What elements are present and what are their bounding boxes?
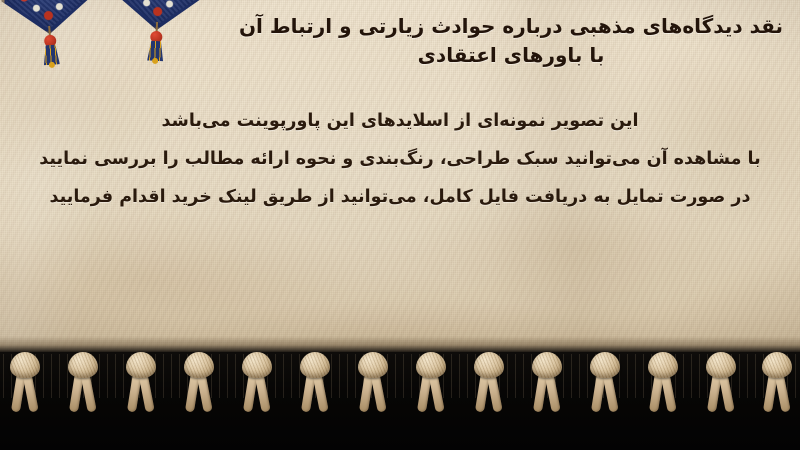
fringe-knot <box>416 352 446 386</box>
fringe-threads <box>0 354 800 398</box>
fringe-knot <box>126 352 156 386</box>
fringe-knot <box>358 352 388 386</box>
tassel-icon <box>147 22 165 63</box>
fringe-knot <box>706 352 736 386</box>
slide-canvas: نقد دیدگاه‌های مذهبی درباره حوادث زیارتی… <box>0 0 800 450</box>
slide-body: این تصویر نمونه‌ای از اسلایدهای این پاور… <box>24 108 776 211</box>
fringe-knot <box>184 352 214 386</box>
body-line: با مشاهده آن می‌توانید سبک طراحی، رنگ‌بن… <box>24 146 776 173</box>
fringe-knot <box>648 352 678 386</box>
carpet-fringe <box>0 338 800 424</box>
medallion-decoration-group <box>0 0 230 92</box>
fringe-knot <box>10 352 40 386</box>
embroidered-medallion-icon <box>110 0 205 40</box>
slide-title: نقد دیدگاه‌های مذهبی درباره حوادث زیارتی… <box>236 12 786 70</box>
embroidered-medallion-icon <box>0 0 96 45</box>
body-line: این تصویر نمونه‌ای از اسلایدهای این پاور… <box>24 108 776 135</box>
tassel-icon <box>41 25 60 66</box>
fringe-knot <box>474 352 504 386</box>
body-line: در صورت تمایل به دریافت فایل کامل، می‌تو… <box>24 184 776 211</box>
fringe-knot <box>532 352 562 386</box>
fringe-knot <box>590 352 620 386</box>
fringe-knot <box>300 352 330 386</box>
fringe-knot <box>242 352 272 386</box>
fringe-knot <box>68 352 98 386</box>
fringe-knot <box>762 352 792 386</box>
